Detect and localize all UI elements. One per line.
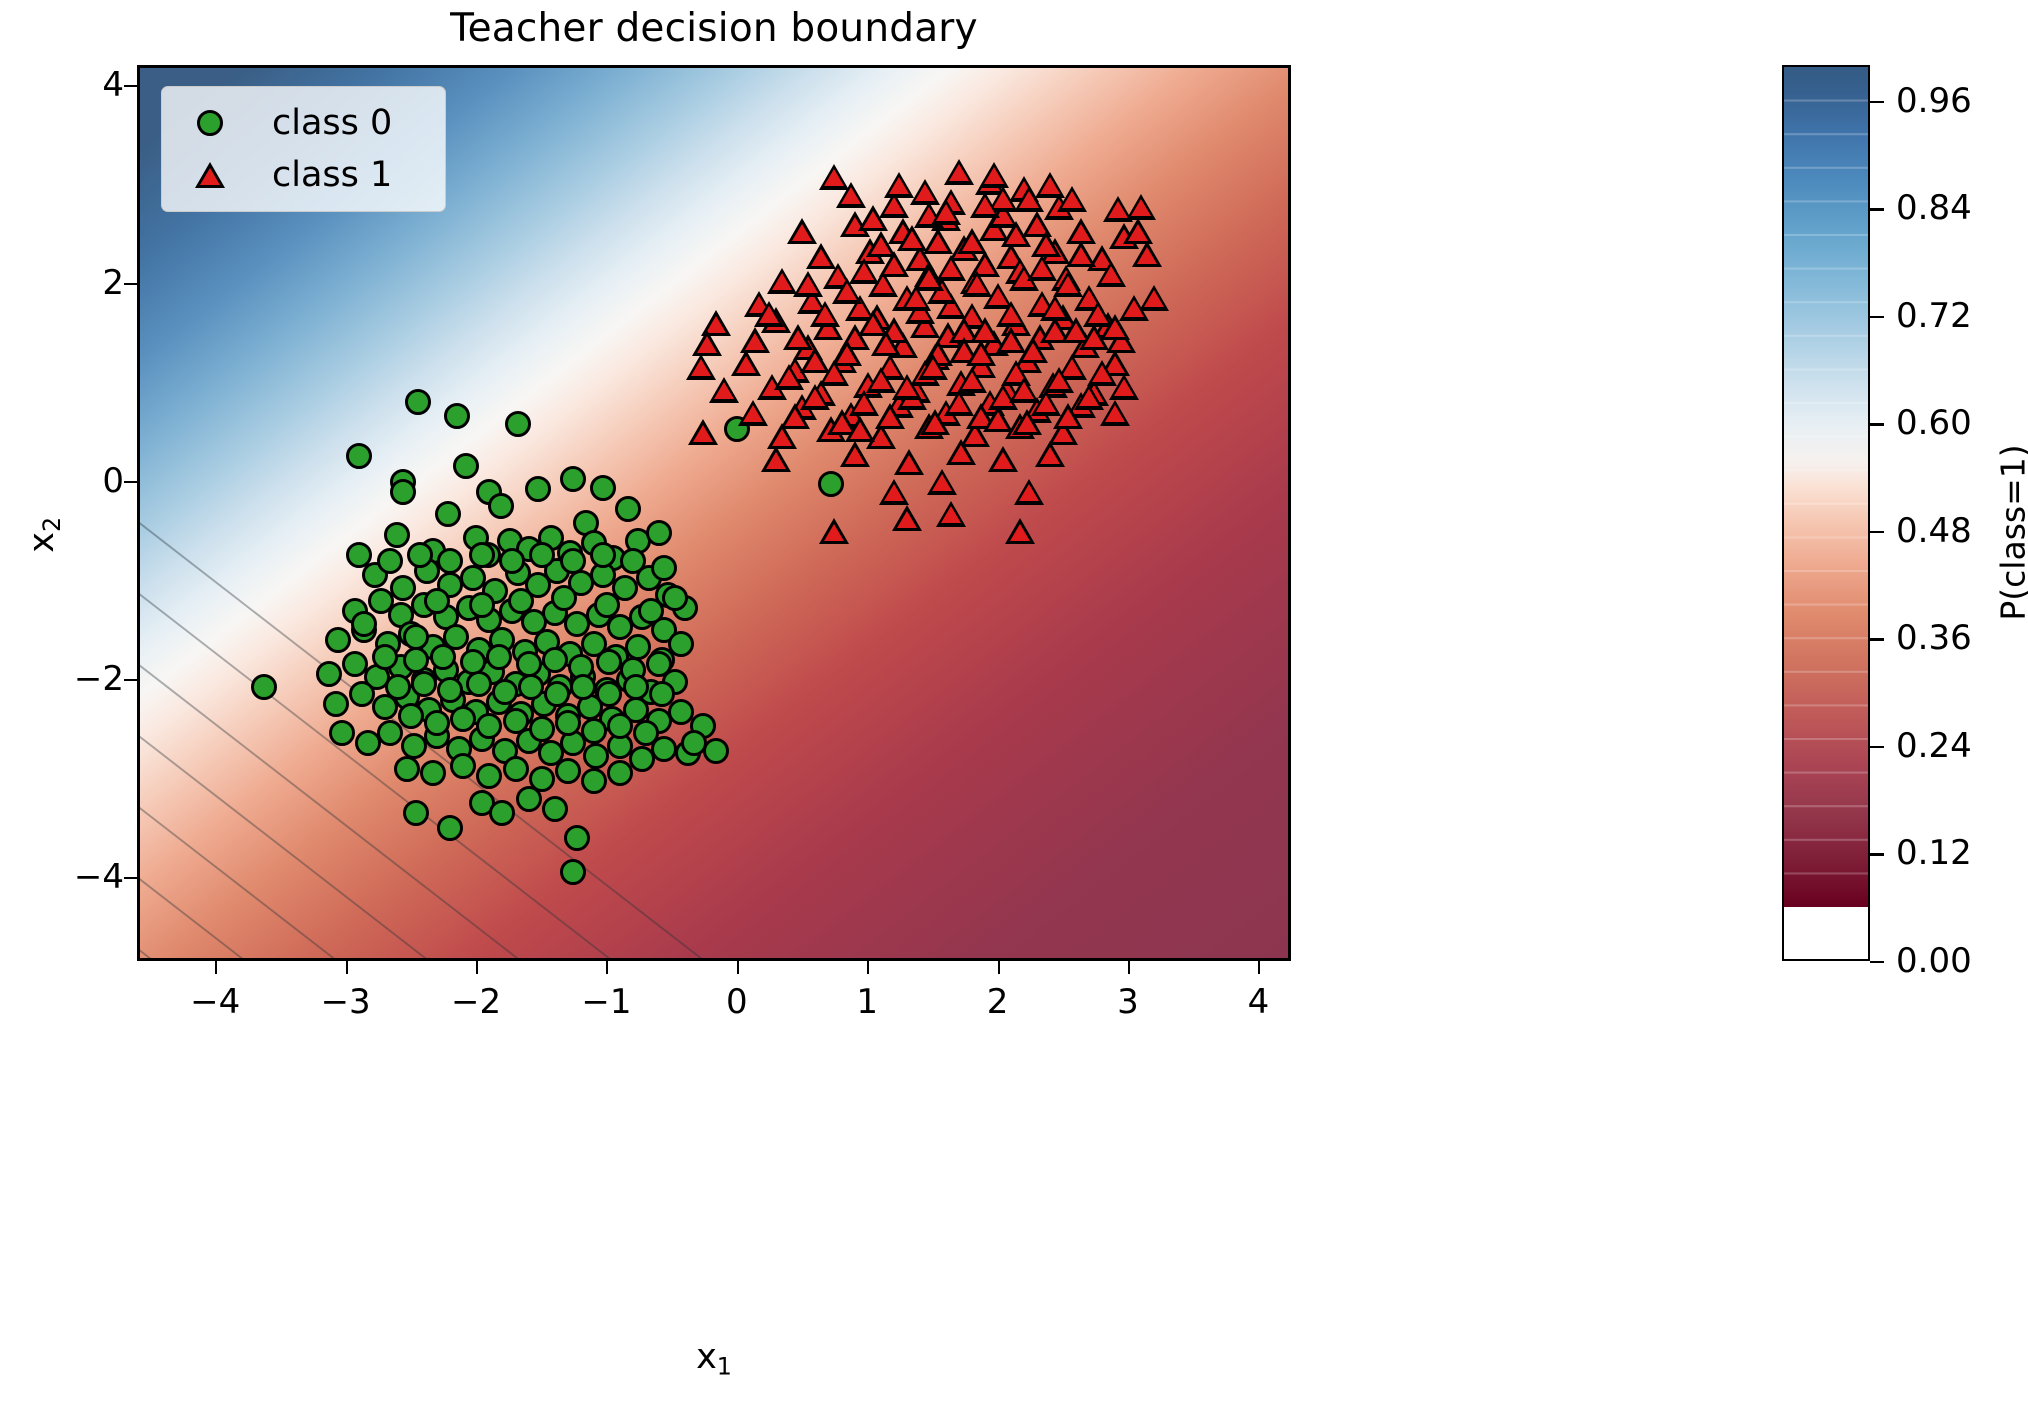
scatter-point-class-0	[555, 758, 581, 784]
scatter-point-class-0	[518, 674, 544, 700]
scatter-point-class-0	[649, 681, 675, 707]
x-tick-label: 0	[726, 982, 748, 1022]
scatter-point-class-0	[316, 661, 342, 687]
x-tick-label: 4	[1248, 982, 1270, 1022]
scatter-point-class-0	[564, 825, 590, 851]
scatter-point-class-0	[469, 592, 495, 618]
scatter-point-class-1	[1040, 295, 1070, 321]
scatter-point-class-0	[581, 768, 607, 794]
scatter-point-class-1	[731, 350, 761, 376]
colorbar-tick-label: 0.24	[1896, 726, 1972, 766]
colorbar-tick-label: 0.72	[1896, 296, 1972, 336]
scatter-point-class-1	[1031, 231, 1061, 257]
scatter-point-class-1	[1012, 409, 1042, 435]
scatter-point-class-0	[411, 671, 437, 697]
y-tick-mark	[124, 877, 137, 879]
x-tick-label: −2	[451, 982, 501, 1022]
colorbar-tick-mark	[1870, 208, 1884, 210]
y-tick-label: −2	[74, 659, 124, 699]
scatter-point-class-0	[385, 674, 411, 700]
scatter-point-class-1	[875, 403, 905, 429]
scatter-point-class-1	[957, 228, 987, 254]
x-tick-mark	[476, 961, 478, 974]
scatter-point-class-0	[581, 718, 607, 744]
y-tick-label: −4	[74, 857, 124, 897]
scatter-point-class-0	[525, 476, 551, 502]
scatter-point-class-1	[1126, 194, 1156, 220]
scatter-point-class-1	[931, 199, 961, 225]
colorbar-tick-mark	[1870, 638, 1884, 640]
colorbar-label: P(class=1)	[1994, 418, 2028, 648]
scatter-point-class-0	[444, 403, 470, 429]
scatter-point-class-1	[897, 225, 927, 251]
scatter-point-class-0	[818, 471, 844, 497]
scatter-point-class-1	[709, 377, 739, 403]
scatter-point-class-1	[866, 231, 896, 257]
x-tick-mark	[1258, 961, 1260, 974]
scatter-point-class-1	[894, 449, 924, 475]
scatter-point-class-0	[489, 800, 515, 826]
scatter-point-class-1	[979, 162, 1009, 188]
scatter-point-class-0	[542, 796, 568, 822]
colorbar-tick-label: 0.96	[1896, 81, 1972, 121]
scatter-point-class-0	[623, 674, 649, 700]
scatter-point-class-0	[594, 592, 620, 618]
scatter-point-class-0	[424, 588, 450, 614]
scatter-point-class-1	[927, 469, 957, 495]
legend-label-class-0: class 0	[272, 103, 392, 143]
scatter-point-class-0	[492, 679, 518, 705]
scatter-point-class-1	[688, 419, 718, 445]
scatter-point-class-1	[780, 403, 810, 429]
scatter-point-class-1	[1132, 241, 1162, 267]
y-tick-mark	[124, 85, 137, 87]
y-tick-label: 0	[102, 461, 124, 501]
scatter-point-class-1	[1096, 261, 1126, 287]
scatter-point-class-1	[836, 182, 866, 208]
scatter-point-class-1	[1100, 314, 1130, 340]
scatter-point-class-0	[544, 681, 570, 707]
scatter-point-class-0	[607, 760, 633, 786]
scatter-point-class-1	[920, 409, 950, 435]
x-tick-label: 1	[856, 982, 878, 1022]
scatter-point-class-1	[962, 271, 992, 297]
scatter-point-class-0	[590, 542, 616, 568]
chart-title: Teacher decision boundary	[137, 6, 1291, 51]
scatter-point-class-1	[793, 271, 823, 297]
scatter-point-class-1	[738, 400, 768, 426]
scatter-point-class-1	[988, 446, 1018, 472]
colorbar-tick-mark	[1870, 531, 1884, 533]
scatter-point-class-1	[787, 218, 817, 244]
legend-entry-class-1: class 1	[162, 151, 445, 199]
colorbar-tick-mark	[1870, 316, 1884, 318]
scatter-point-class-0	[499, 548, 525, 574]
x-tick-mark	[606, 961, 608, 974]
scatter-point-class-0	[555, 710, 581, 736]
scatter-point-class-0	[516, 786, 542, 812]
scatter-point-class-0	[508, 588, 534, 614]
scatter-point-class-1	[996, 301, 1026, 327]
colorbar-tick-label: 0.60	[1896, 403, 1972, 443]
colorbar-tick-label: 0.84	[1896, 188, 1972, 228]
scatter-point-class-0	[560, 548, 586, 574]
x-tick-label: −4	[190, 982, 240, 1022]
scatter-point-class-1	[923, 228, 953, 254]
y-tick-mark	[124, 283, 137, 285]
scatter-point-class-1	[1035, 441, 1065, 467]
colorbar-tick-mark	[1870, 746, 1884, 748]
scatter-point-class-1	[936, 255, 966, 281]
scatter-point-class-1	[1100, 400, 1130, 426]
scatter-point-class-0	[346, 443, 372, 469]
y-tick-mark	[124, 679, 137, 681]
scatter-point-class-1	[845, 416, 875, 442]
x-tick-mark	[998, 961, 1000, 974]
scatter-point-class-0	[590, 475, 616, 501]
scatter-point-class-0	[570, 674, 596, 700]
colorbar-tick-mark	[1870, 961, 1884, 963]
scatter-point-class-0	[662, 585, 688, 611]
legend-marker-circle	[197, 110, 223, 136]
scatter-point-class-1	[1053, 403, 1083, 429]
y-tick-label: 4	[102, 65, 124, 105]
colorbar	[1782, 65, 1870, 961]
scatter-point-class-0	[323, 691, 349, 717]
figure-root: Teacher decision boundary	[0, 0, 2028, 1407]
scatter-point-class-0	[390, 479, 416, 505]
scatter-point-class-0	[638, 598, 664, 624]
scatter-point-class-0	[651, 555, 677, 581]
scatter-point-class-1	[892, 505, 922, 531]
scatter-point-class-1	[884, 172, 914, 198]
colorbar-tick-mark	[1870, 853, 1884, 855]
legend-marker-triangle	[195, 162, 225, 188]
scatter-point-class-1	[858, 205, 888, 231]
scatter-point-class-0	[453, 453, 479, 479]
scatter-point-class-1	[819, 518, 849, 544]
scatter-point-class-1	[983, 406, 1013, 432]
scatter-point-class-1	[944, 159, 974, 185]
x-tick-label: −1	[581, 982, 631, 1022]
scatter-point-class-0	[435, 501, 461, 527]
scatter-point-class-1	[1035, 172, 1065, 198]
scatter-point-class-1	[1066, 241, 1096, 267]
colorbar-tick-label: 0.36	[1896, 618, 1972, 658]
scatter-point-class-0	[560, 466, 586, 492]
x-tick-label: 3	[1117, 982, 1139, 1022]
legend-label-class-1: class 1	[272, 155, 392, 195]
scatter-point-class-0	[430, 644, 456, 670]
scatter-point-class-0	[529, 716, 555, 742]
x-tick-mark	[346, 961, 348, 974]
scatter-point-class-0	[542, 647, 568, 673]
scatter-point-class-1	[1053, 271, 1083, 297]
scatter-point-class-1	[871, 330, 901, 356]
scatter-point-class-1	[692, 330, 722, 356]
scatter-point-class-1	[1014, 479, 1044, 505]
scatter-point-class-0	[251, 674, 277, 700]
scatter-point-class-1	[1005, 518, 1035, 544]
scatter-point-class-1	[901, 285, 931, 311]
scatter-point-class-0	[437, 677, 463, 703]
scatter-point-class-0	[615, 496, 641, 522]
colorbar-tick-mark	[1870, 423, 1884, 425]
scatter-point-class-1	[1009, 377, 1039, 403]
scatter-point-class-1	[966, 340, 996, 366]
scatter-point-class-1	[761, 446, 791, 472]
scatter-point-class-0	[346, 542, 372, 568]
x-tick-mark	[867, 961, 869, 974]
scatter-point-class-0	[405, 389, 431, 415]
colorbar-tick-mark	[1870, 101, 1884, 103]
scatter-point-class-0	[384, 522, 410, 548]
legend[interactable]: class 0 class 1	[161, 86, 446, 212]
scatter-point-class-1	[879, 479, 909, 505]
scatter-point-class-1	[970, 192, 1000, 218]
plot-area: class 0 class 1	[137, 65, 1291, 961]
y-tick-label: 2	[102, 263, 124, 303]
scatter-point-class-1	[810, 301, 840, 327]
scatter-point-class-1	[946, 439, 976, 465]
scatter-point-class-1	[840, 441, 870, 467]
scatter-point-class-1	[1087, 360, 1117, 386]
scatter-point-class-0	[488, 493, 514, 519]
scatter-point-class-0	[403, 800, 429, 826]
x-tick-label: −3	[321, 982, 371, 1022]
colorbar-tick-label: 0.48	[1896, 511, 1972, 551]
y-tick-mark	[124, 481, 137, 483]
scatter-point-class-1	[1001, 221, 1031, 247]
scatter-point-class-1	[800, 347, 830, 373]
scatter-point-class-0	[486, 644, 512, 670]
scatter-point-class-1	[918, 354, 948, 380]
x-tick-mark	[737, 961, 739, 974]
scatter-point-class-0	[551, 585, 577, 611]
colorbar-tick-label: 0.00	[1896, 941, 1972, 981]
scatter-point-class-1	[996, 327, 1026, 353]
scatter-point-class-0	[529, 542, 555, 568]
scatter-point-class-0	[620, 548, 646, 574]
scatter-point-class-1	[754, 301, 784, 327]
colorbar-tick-label: 0.12	[1896, 833, 1972, 873]
scatter-point-class-0	[469, 542, 495, 568]
scatter-point-class-1	[1027, 255, 1057, 281]
x-tick-mark	[215, 961, 217, 974]
scatter-point-class-1	[1123, 218, 1153, 244]
scatter-point-class-0	[596, 681, 622, 707]
colorbar-gradient	[1784, 67, 1868, 907]
x-tick-mark	[1128, 961, 1130, 974]
scatter-point-class-0	[560, 859, 586, 885]
scatter-point-class-0	[349, 681, 375, 707]
scatter-point-class-0	[503, 708, 529, 734]
legend-entry-class-0: class 0	[162, 99, 445, 147]
scatter-point-class-1	[936, 501, 966, 527]
x-axis-label: x1	[137, 1337, 1291, 1381]
y-axis-label: x2	[22, 455, 66, 615]
scatter-point-class-0	[466, 671, 492, 697]
scatter-point-class-0	[646, 651, 672, 677]
x-tick-label: 2	[987, 982, 1009, 1022]
scatter-point-class-0	[503, 756, 529, 782]
